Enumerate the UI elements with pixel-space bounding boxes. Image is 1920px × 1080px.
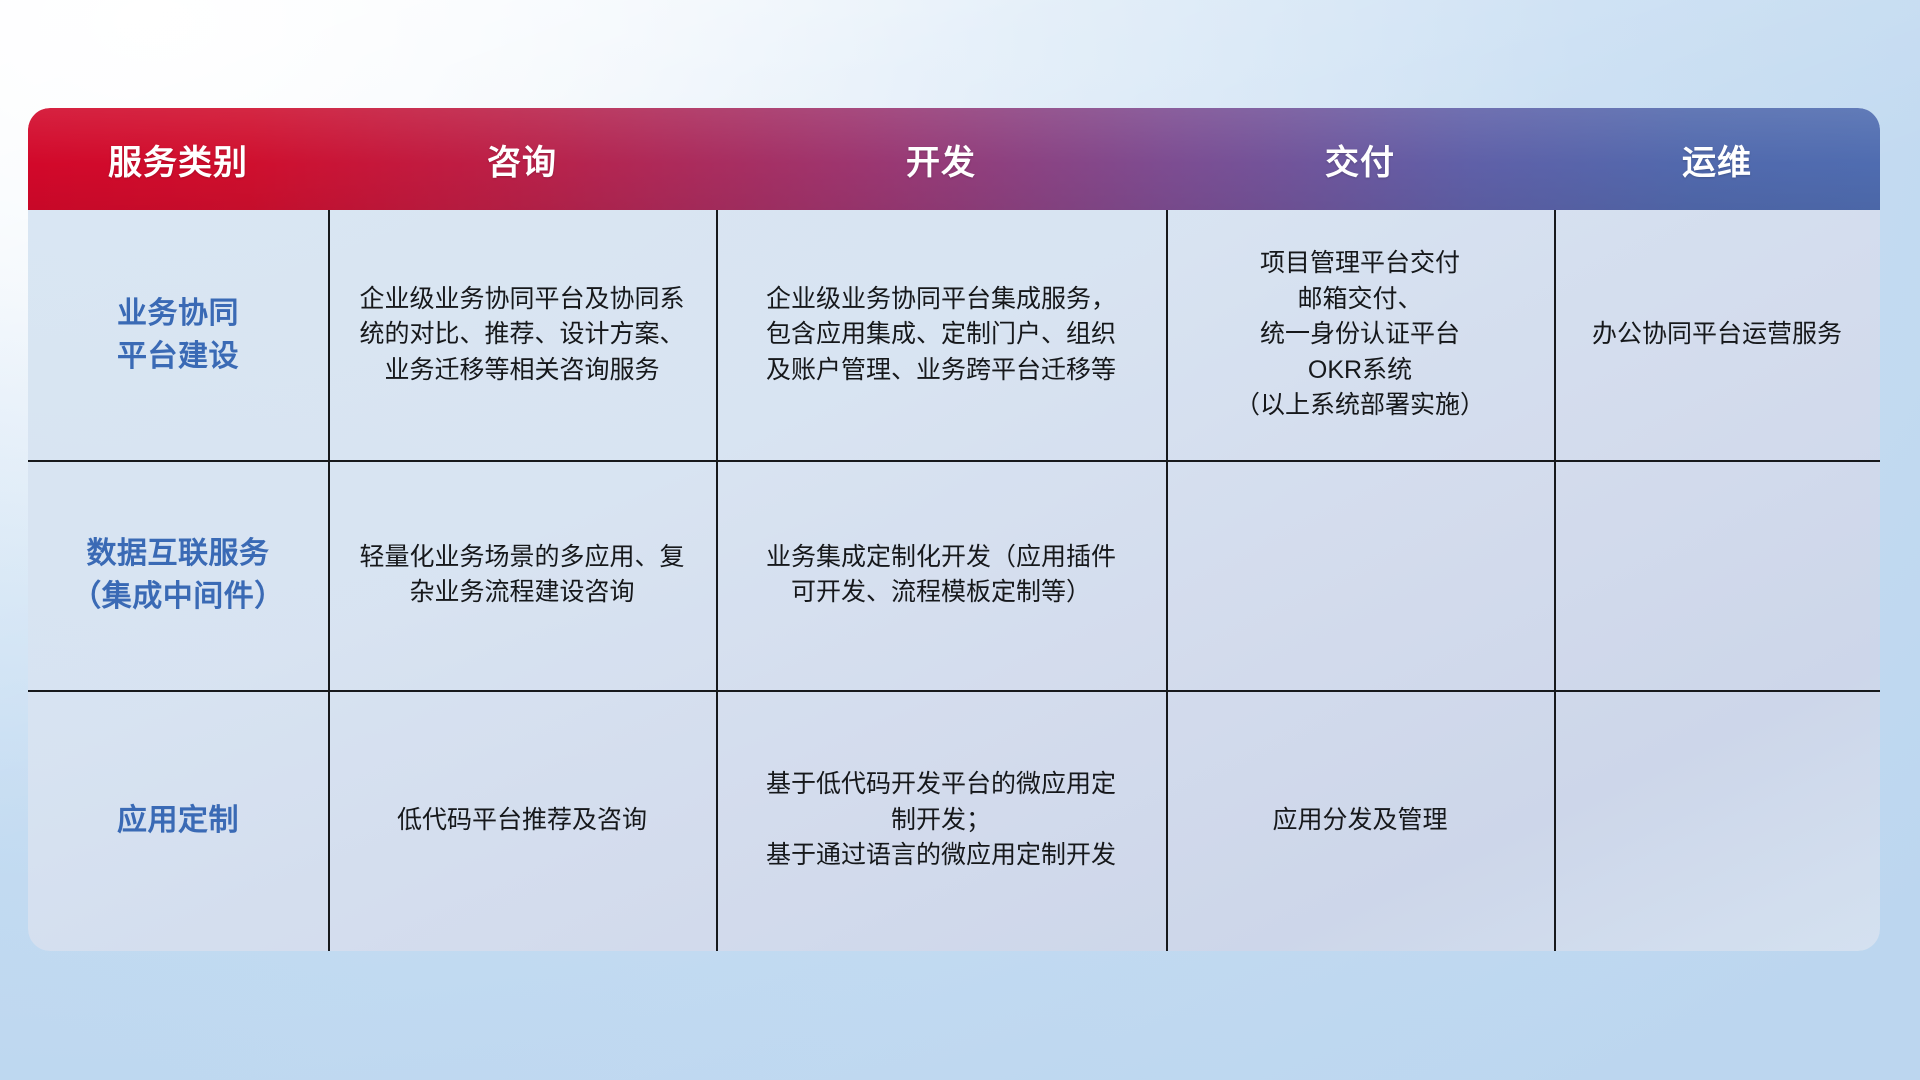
cell-line: 统的对比、推荐、设计方案、 <box>359 317 684 353</box>
cell-operations <box>1554 460 1880 690</box>
cell-line: （以上系统部署实施） <box>1235 388 1485 424</box>
row-label-line: 应用定制 <box>117 799 239 843</box>
cell-line: 杂业务流程建设咨询 <box>359 575 684 611</box>
cell-line: 企业级业务协同平台及协同系 <box>359 282 684 318</box>
cell-consulting: 低代码平台推荐及咨询 <box>328 690 716 951</box>
row-label-cell: 数据互联服务 （集成中间件） <box>28 460 328 690</box>
cell-line: 办公协同平台运营服务 <box>1592 317 1842 353</box>
cell-line: 基于通过语言的微应用定制开发 <box>766 838 1116 874</box>
cell-line: 基于低代码开发平台的微应用定 <box>766 767 1116 803</box>
row-label-line: 平台建设 <box>117 335 239 379</box>
cell-text: 业务集成定制化开发（应用插件 可开发、流程模板定制等） <box>766 540 1116 611</box>
cell-line: 轻量化业务场景的多应用、复 <box>359 540 684 576</box>
column-header-development: 开发 <box>716 135 1166 184</box>
column-header-delivery: 交付 <box>1166 135 1554 184</box>
table-row: 应用定制 低代码平台推荐及咨询 基于低代码开发平台的微应用定 制开发； 基于通过… <box>28 690 1880 951</box>
column-header-consulting: 咨询 <box>328 135 716 184</box>
cell-development: 企业级业务协同平台集成服务， 包含应用集成、定制门户、组织 及账户管理、业务跨平… <box>716 210 1166 460</box>
column-header-operations: 运维 <box>1554 135 1880 184</box>
cell-text: 轻量化业务场景的多应用、复 杂业务流程建设咨询 <box>359 540 684 611</box>
cell-line: 业务迁移等相关咨询服务 <box>359 353 684 389</box>
cell-development: 业务集成定制化开发（应用插件 可开发、流程模板定制等） <box>716 460 1166 690</box>
cell-text: 项目管理平台交付 邮箱交付、 统一身份认证平台 OKR系统 （以上系统部署实施） <box>1235 246 1485 424</box>
cell-line: 包含应用集成、定制门户、组织 <box>766 317 1116 353</box>
cell-line: 低代码平台推荐及咨询 <box>397 803 647 839</box>
cell-text: 办公协同平台运营服务 <box>1592 317 1842 353</box>
cell-line: 可开发、流程模板定制等） <box>766 575 1116 611</box>
cell-line: 及账户管理、业务跨平台迁移等 <box>766 353 1116 389</box>
table-body: 业务协同 平台建设 企业级业务协同平台及协同系 统的对比、推荐、设计方案、 业务… <box>28 210 1880 951</box>
cell-text: 企业级业务协同平台及协同系 统的对比、推荐、设计方案、 业务迁移等相关咨询服务 <box>359 282 684 389</box>
row-label-text: 数据互联服务 （集成中间件） <box>71 532 285 619</box>
cell-line: 制开发； <box>766 803 1116 839</box>
cell-operations <box>1554 690 1880 951</box>
cell-line: 应用分发及管理 <box>1272 803 1447 839</box>
cell-development: 基于低代码开发平台的微应用定 制开发； 基于通过语言的微应用定制开发 <box>716 690 1166 951</box>
cell-delivery: 应用分发及管理 <box>1166 690 1554 951</box>
column-header-service-category: 服务类别 <box>28 135 328 184</box>
cell-consulting: 企业级业务协同平台及协同系 统的对比、推荐、设计方案、 业务迁移等相关咨询服务 <box>328 210 716 460</box>
cell-text: 应用分发及管理 <box>1272 803 1447 839</box>
row-label-text: 应用定制 <box>117 799 239 843</box>
cell-line: OKR系统 <box>1235 353 1485 389</box>
cell-text: 企业级业务协同平台集成服务， 包含应用集成、定制门户、组织 及账户管理、业务跨平… <box>766 282 1116 389</box>
service-matrix-table: 服务类别 咨询 开发 交付 运维 业务协同 平台建设 企业级业务协同平台及协同系… <box>28 108 1880 951</box>
cell-line: 企业级业务协同平台集成服务， <box>766 282 1116 318</box>
cell-line: 项目管理平台交付 <box>1235 246 1485 282</box>
row-label-line: （集成中间件） <box>71 575 285 619</box>
row-label-text: 业务协同 平台建设 <box>117 292 239 379</box>
table-header-row: 服务类别 咨询 开发 交付 运维 <box>28 108 1880 210</box>
row-label-cell: 应用定制 <box>28 690 328 951</box>
row-label-line: 数据互联服务 <box>71 532 285 576</box>
row-label-cell: 业务协同 平台建设 <box>28 210 328 460</box>
cell-line: 邮箱交付、 <box>1235 282 1485 318</box>
cell-operations: 办公协同平台运营服务 <box>1554 210 1880 460</box>
cell-line: 统一身份认证平台 <box>1235 317 1485 353</box>
cell-text: 基于低代码开发平台的微应用定 制开发； 基于通过语言的微应用定制开发 <box>766 767 1116 874</box>
table-row: 业务协同 平台建设 企业级业务协同平台及协同系 统的对比、推荐、设计方案、 业务… <box>28 210 1880 460</box>
cell-consulting: 轻量化业务场景的多应用、复 杂业务流程建设咨询 <box>328 460 716 690</box>
table-row: 数据互联服务 （集成中间件） 轻量化业务场景的多应用、复 杂业务流程建设咨询 业… <box>28 460 1880 690</box>
cell-delivery <box>1166 460 1554 690</box>
cell-delivery: 项目管理平台交付 邮箱交付、 统一身份认证平台 OKR系统 （以上系统部署实施） <box>1166 210 1554 460</box>
cell-line: 业务集成定制化开发（应用插件 <box>766 540 1116 576</box>
cell-text: 低代码平台推荐及咨询 <box>397 803 647 839</box>
row-label-line: 业务协同 <box>117 292 239 336</box>
